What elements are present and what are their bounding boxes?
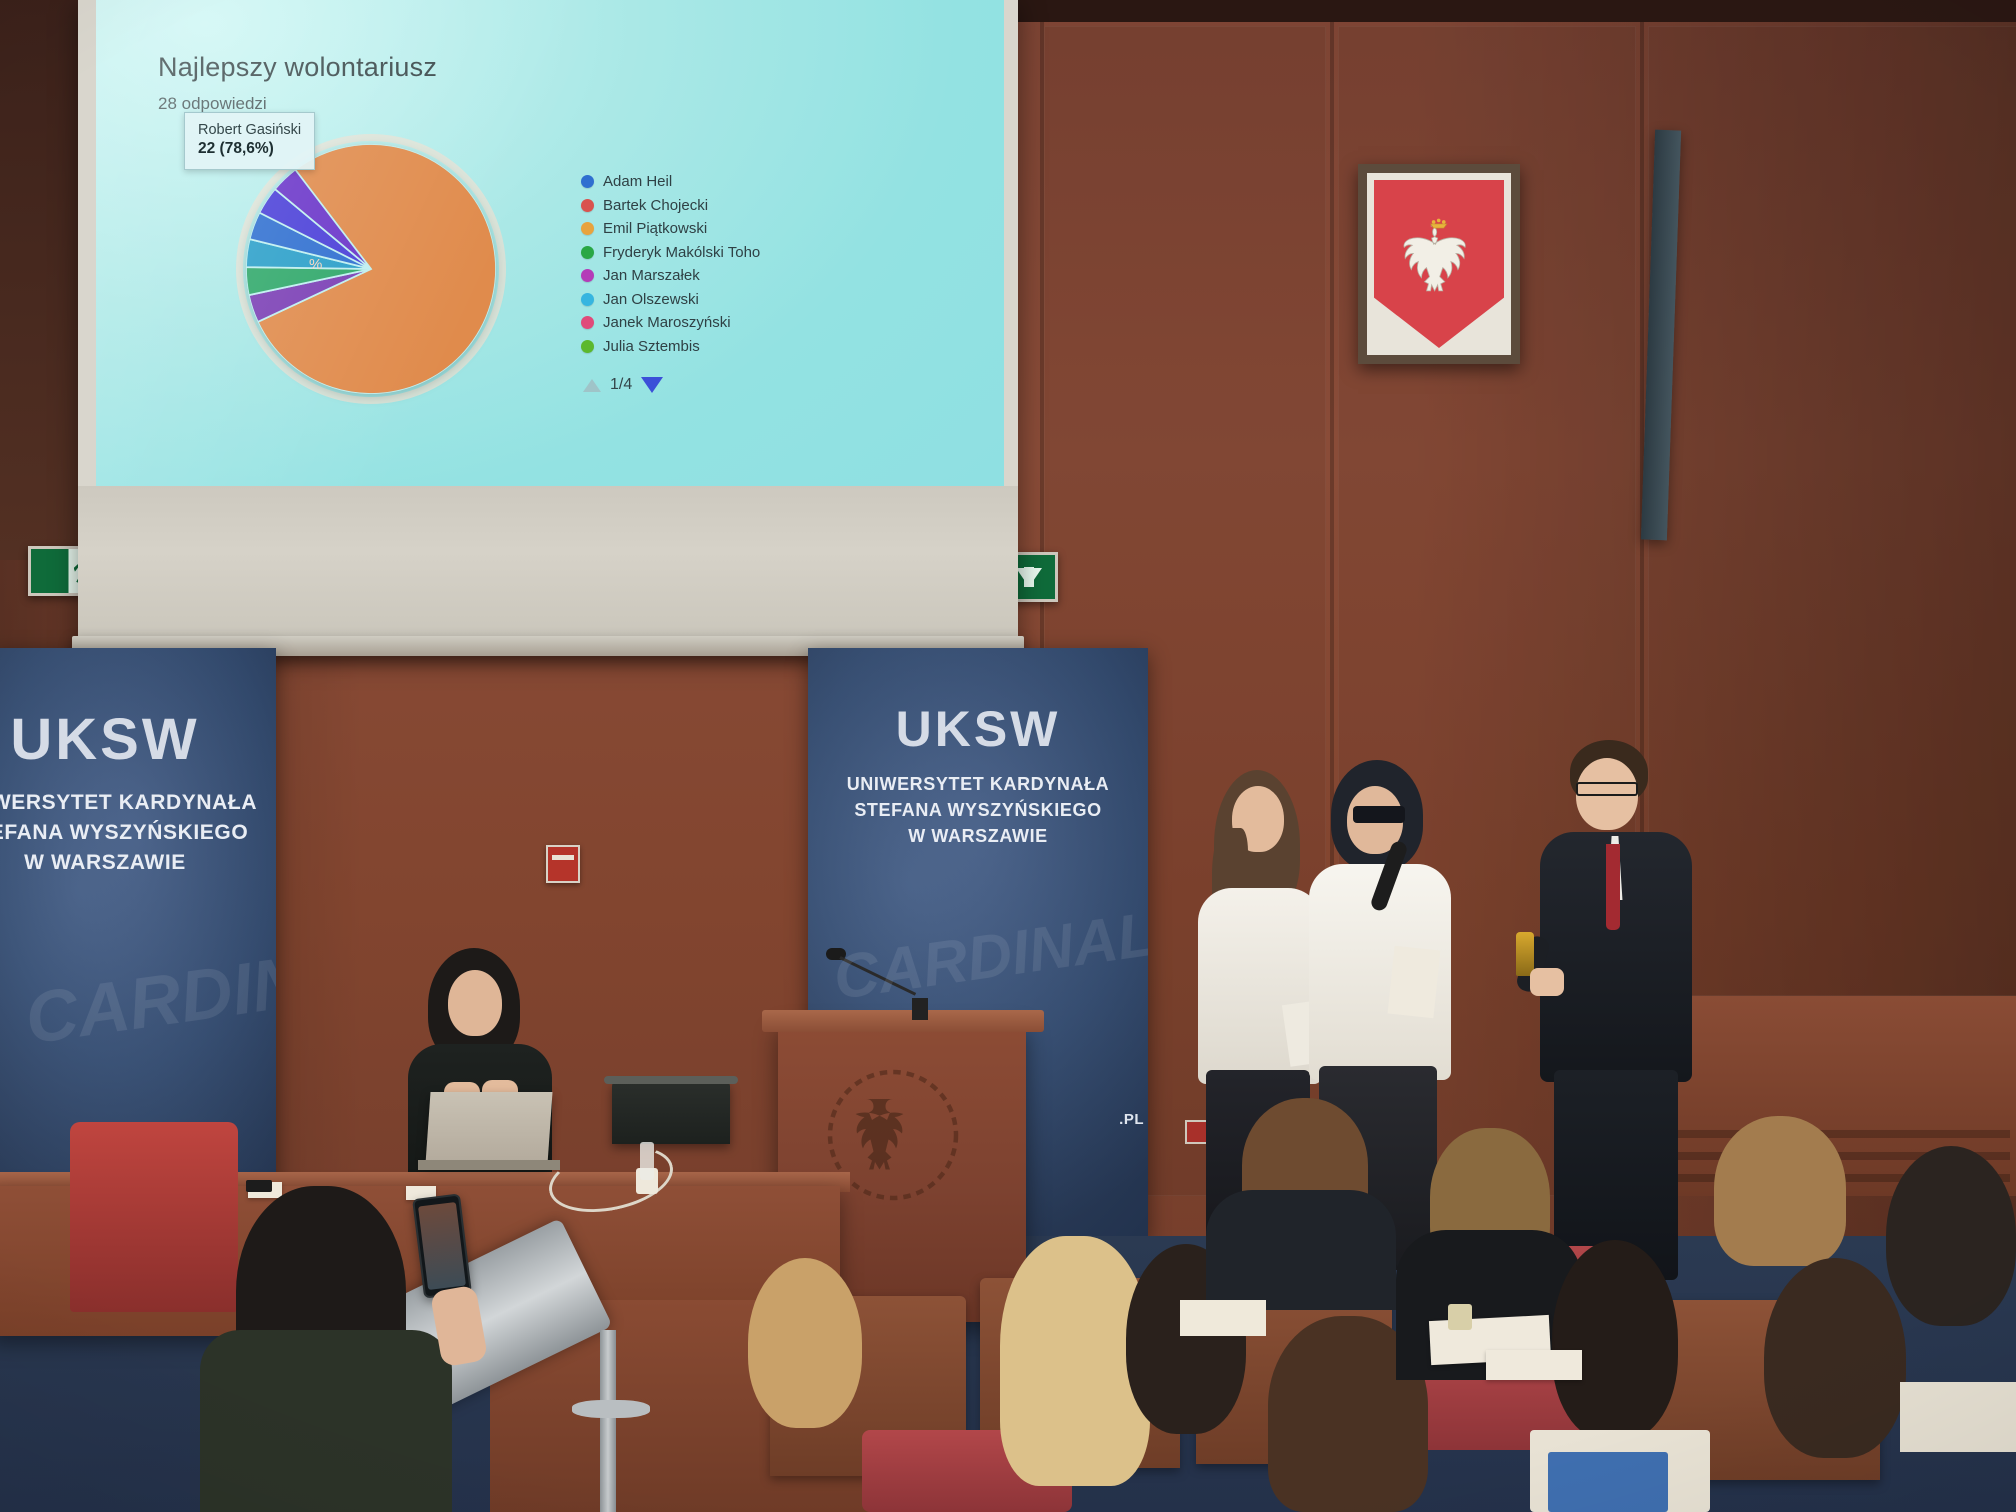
phone-screen — [418, 1202, 466, 1290]
bottle — [640, 1142, 654, 1180]
audience-member-torso — [1206, 1190, 1396, 1310]
legend-item[interactable]: Adam Heil — [581, 170, 760, 194]
pager-text: 1/4 — [610, 376, 632, 394]
chart-legend: Adam HeilBartek ChojeckiEmil PiątkowskiF… — [581, 170, 760, 358]
legend-color-dot — [581, 175, 594, 188]
polish-coat-of-arms — [1358, 164, 1520, 364]
legend-label: Julia Sztembis — [603, 338, 700, 355]
legend-item[interactable]: Jan Olszewski — [581, 288, 760, 312]
remote-control[interactable] — [246, 1180, 272, 1192]
paper-sheet — [1388, 946, 1441, 1018]
legend-color-dot — [581, 222, 594, 235]
legend-item[interactable]: Fryderyk Makólski Toho — [581, 241, 760, 265]
papers-on-desk — [1180, 1300, 1266, 1336]
banner-acronym: UKSW — [808, 700, 1148, 758]
banner-line-2: STEFANA WYSZYŃSKIEGO — [0, 821, 276, 845]
eyeglasses-icon — [1576, 782, 1638, 796]
presenter-man-suit-award — [1540, 740, 1700, 1280]
legend-label: Fryderyk Makólski Toho — [603, 244, 760, 261]
legend-item[interactable]: Emil Piątkowski — [581, 217, 760, 241]
auditorium-photo: Najlepszy wolontariusz 28 odpowiedzi % R… — [0, 0, 2016, 1512]
head — [448, 970, 502, 1036]
legend-color-dot — [581, 269, 594, 282]
necktie — [1606, 844, 1620, 930]
legend-label: Janek Maroszyński — [603, 314, 731, 331]
laptop-base — [418, 1160, 560, 1170]
banner-line-2: STEFANA WYSZYŃSKIEGO — [808, 800, 1148, 821]
banner-watermark: CARDINALIS ST — [829, 877, 1148, 1014]
pie-slices — [246, 144, 496, 394]
tooltip-name: Robert Gasiński — [198, 121, 301, 139]
slide-pager[interactable]: 1/4 — [583, 376, 663, 394]
legend-item[interactable]: Jan Marszałek — [581, 264, 760, 288]
audience-member — [1886, 1146, 2016, 1326]
legend-label: Jan Marszałek — [603, 267, 700, 284]
book-on-desk — [1548, 1452, 1668, 1512]
legend-color-dot — [581, 246, 594, 259]
pie-chart — [246, 144, 496, 394]
slide-response-count: 28 odpowiedzi — [158, 94, 267, 114]
hand — [1530, 968, 1564, 996]
tooltip-value: 22 (78,6%) — [198, 139, 301, 160]
legend-color-dot — [581, 316, 594, 329]
legend-item[interactable]: Janek Maroszyński — [581, 311, 760, 335]
projected-slide: Najlepszy wolontariusz 28 odpowiedzi % R… — [96, 0, 1004, 488]
triangle-up-icon[interactable] — [583, 379, 601, 392]
slice-percent-label: % — [309, 256, 322, 273]
banner-line-1: UNIWERSYTET KARDYNAŁA — [808, 774, 1148, 795]
banner-watermark: CARDINALIS — [20, 918, 276, 1061]
wall-panel — [1648, 26, 2016, 996]
chair-red — [70, 1122, 238, 1312]
monitor-icon[interactable] — [612, 1082, 730, 1144]
sunglasses-icon — [1353, 806, 1405, 823]
railing-post — [600, 1330, 616, 1512]
papers-on-desk — [1486, 1350, 1582, 1380]
legend-color-dot — [581, 293, 594, 306]
banner-url-fragment: .PL — [1119, 1111, 1144, 1128]
legend-label: Jan Olszewski — [603, 291, 699, 308]
legend-label: Adam Heil — [603, 173, 672, 190]
audience-member — [1764, 1258, 1906, 1458]
legend-color-dot — [581, 340, 594, 353]
audience-member — [748, 1258, 862, 1428]
legend-item[interactable]: Julia Sztembis — [581, 335, 760, 359]
white-eagle-icon — [1388, 200, 1489, 321]
cup — [1448, 1304, 1472, 1330]
projector-screen: Najlepszy wolontariusz 28 odpowiedzi % R… — [78, 0, 1018, 649]
legend-color-dot — [581, 199, 594, 212]
legend-item[interactable]: Bartek Chojecki — [581, 194, 760, 218]
banner-acronym: UKSW — [0, 706, 276, 773]
audience-member-coat — [200, 1330, 452, 1512]
legend-label: Emil Piątkowski — [603, 220, 707, 237]
papers-on-desk — [1900, 1382, 2016, 1452]
banner-line-3: W WARSZAWIE — [808, 826, 1148, 847]
pie-tooltip: Robert Gasiński 22 (78,6%) — [184, 112, 315, 170]
screen-blank-area — [78, 486, 1018, 649]
laptop-icon[interactable] — [425, 1092, 552, 1164]
down-arrow-icon — [1016, 568, 1042, 587]
legend-label: Bartek Chojecki — [603, 197, 708, 214]
triangle-down-icon[interactable] — [641, 377, 663, 393]
fire-alarm-call-point[interactable] — [546, 845, 580, 883]
banner-line-1: UNIWERSYTET KARDYNAŁA — [0, 791, 276, 815]
audience-member — [1552, 1240, 1678, 1440]
slide-title: Najlepszy wolontariusz — [158, 52, 437, 83]
banner-line-3: W WARSZAWIE — [0, 851, 276, 875]
audience-member — [1714, 1116, 1846, 1266]
railing-base — [572, 1400, 650, 1418]
